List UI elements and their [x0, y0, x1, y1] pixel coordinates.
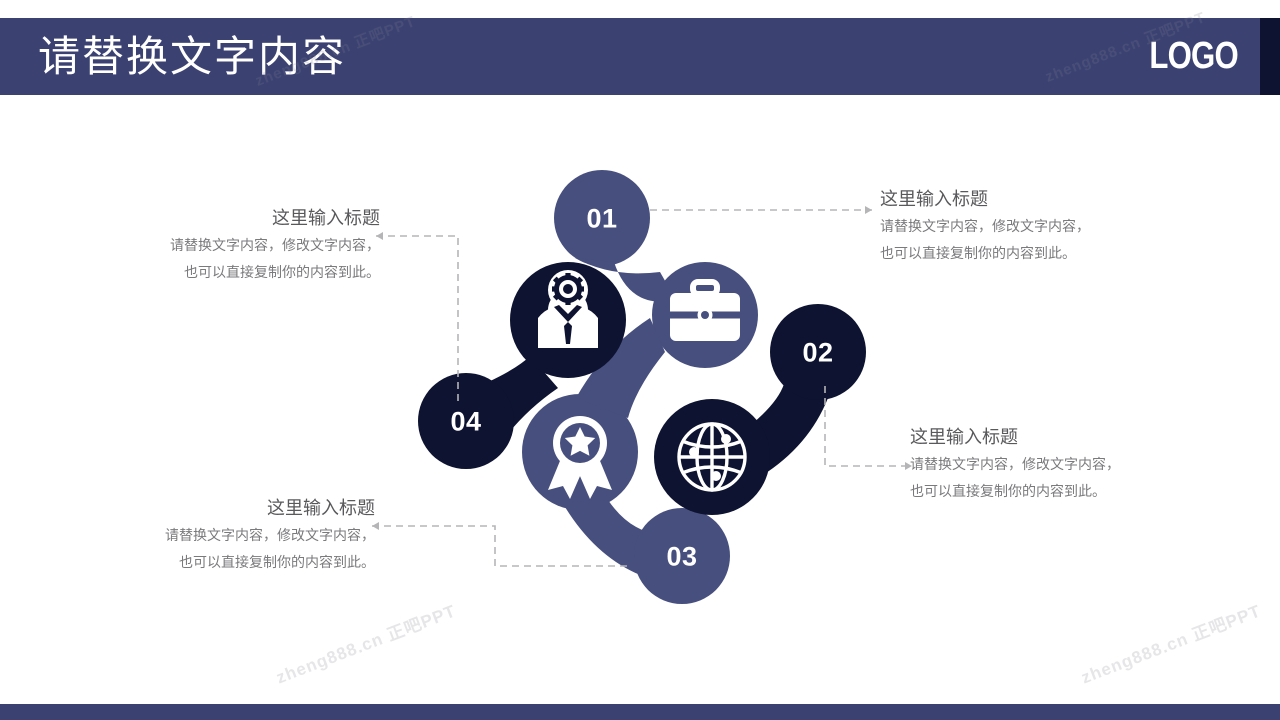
- callout-body-line-2: 也可以直接复制你的内容到此。: [100, 259, 380, 286]
- footer-bar: [0, 704, 1280, 720]
- callout-body-line-2: 也可以直接复制你的内容到此。: [910, 478, 1200, 505]
- callout-body-line-1: 请替换文字内容，修改文字内容，: [95, 522, 375, 549]
- watermark: zheng888.cn 正吧PPT: [272, 597, 459, 689]
- node-award: [522, 394, 638, 510]
- connector-arrow-top-right: [865, 206, 872, 214]
- node-briefcase: [652, 262, 758, 368]
- node-label-01: 01: [586, 206, 617, 233]
- chain-dark-navy: [418, 262, 866, 515]
- link-briefcase-award: [576, 318, 665, 418]
- watermark: zheng888.cn 正吧PPT: [1077, 597, 1264, 689]
- briefcase-icon: [670, 282, 740, 341]
- callout-title: 这里输入标题: [910, 423, 1200, 451]
- connector-bottom-right: [825, 386, 912, 466]
- callout-title: 这里输入标题: [95, 494, 375, 522]
- header-accent-block: [1260, 18, 1280, 95]
- infographic-diagram: [0, 0, 1280, 720]
- callout-bottom-left: 这里输入标题 请替换文字内容，修改文字内容， 也可以直接复制你的内容到此。: [95, 494, 375, 576]
- node-globe: [654, 399, 770, 515]
- node-strategy: [510, 262, 626, 378]
- slide-canvas: 请替换文字内容 LOGO: [0, 0, 1280, 720]
- node-label-04: 04: [450, 409, 481, 436]
- award-ribbon-icon: [548, 416, 612, 499]
- callout-body-line-2: 也可以直接复制你的内容到此。: [95, 549, 375, 576]
- globe-network-icon: [679, 424, 745, 490]
- callout-body-line-1: 请替换文字内容，修改文字内容，: [880, 213, 1180, 240]
- connector-top-left: [376, 236, 458, 404]
- connector-bottom-left: [372, 526, 632, 566]
- callout-bottom-right: 这里输入标题 请替换文字内容，修改文字内容， 也可以直接复制你的内容到此。: [910, 423, 1200, 505]
- callout-title: 这里输入标题: [100, 204, 380, 232]
- callout-body-line-2: 也可以直接复制你的内容到此。: [880, 240, 1180, 267]
- node-label-02: 02: [802, 340, 833, 367]
- callout-top-left: 这里输入标题 请替换文字内容，修改文字内容， 也可以直接复制你的内容到此。: [100, 204, 380, 286]
- callout-title: 这里输入标题: [880, 185, 1180, 213]
- callout-body-line-1: 请替换文字内容，修改文字内容，: [910, 451, 1200, 478]
- node-label-03: 03: [666, 544, 697, 571]
- callout-top-right: 这里输入标题 请替换文字内容，修改文字内容， 也可以直接复制你的内容到此。: [880, 185, 1180, 267]
- callout-body-line-1: 请替换文字内容，修改文字内容，: [100, 232, 380, 259]
- person-gear-icon: [538, 270, 598, 348]
